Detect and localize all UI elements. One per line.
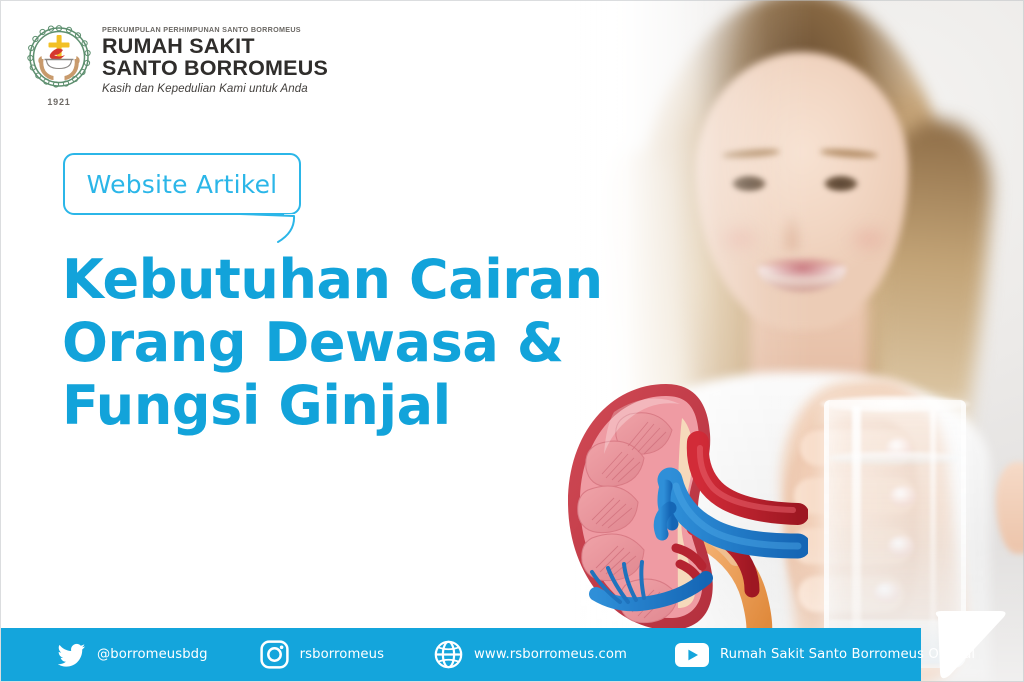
social-twitter[interactable]: @borromeusbdg	[58, 643, 208, 667]
headline-line-2: Orang Dewasa &	[62, 312, 582, 375]
logo-line-1: RUMAH SAKIT	[102, 36, 328, 58]
logo-text-block: PERKUMPULAN PERHIMPUNAN SANTO BORROMEUS …	[102, 23, 328, 95]
logo-tagline: Kasih dan Kepedulian Kami untuk Anda	[102, 82, 328, 95]
youtube-icon[interactable]	[675, 643, 709, 667]
social-label: @borromeusbdg	[97, 647, 208, 662]
social-instagram[interactable]: rsborromeus	[260, 640, 384, 669]
hospital-logo: 1921 PERKUMPULAN PERHIMPUNAN SANTO BORRO…	[26, 23, 328, 107]
crest-svg	[26, 23, 92, 95]
headline-line-1: Kebutuhan Cairan	[62, 249, 582, 312]
headline-line-3: Fungsi Ginjal	[62, 375, 582, 438]
badge-tail-icon	[238, 212, 300, 248]
twitter-icon[interactable]	[58, 643, 86, 667]
globe-icon[interactable]	[434, 640, 463, 669]
social-website[interactable]: www.rsborromeus.com	[434, 640, 627, 669]
social-label: rsborromeus	[300, 647, 384, 662]
social-label: www.rsborromeus.com	[474, 647, 627, 662]
logo-kicker: PERKUMPULAN PERHIMPUNAN SANTO BORROMEUS	[102, 26, 328, 34]
crest-year: 1921	[26, 97, 92, 107]
page-title: Kebutuhan Cairan Orang Dewasa & Fungsi G…	[62, 249, 582, 438]
instagram-icon[interactable]	[260, 640, 289, 669]
corner-fold-decoration	[930, 609, 1010, 681]
website-artikel-badge: Website Artikel	[63, 153, 301, 215]
borromeus-crest-icon: 1921	[26, 23, 92, 107]
poster-canvas: 1921 PERKUMPULAN PERHIMPUNAN SANTO BORRO…	[0, 0, 1024, 682]
kidney-svg	[558, 378, 808, 640]
logo-line-2: SANTO BORROMEUS	[102, 58, 328, 80]
badge-label: Website Artikel	[87, 170, 278, 199]
kidney-cross-section-icon	[558, 378, 808, 640]
footer-bar: @borromeusbdg rsborromeus www.rsborromeu…	[1, 628, 921, 681]
